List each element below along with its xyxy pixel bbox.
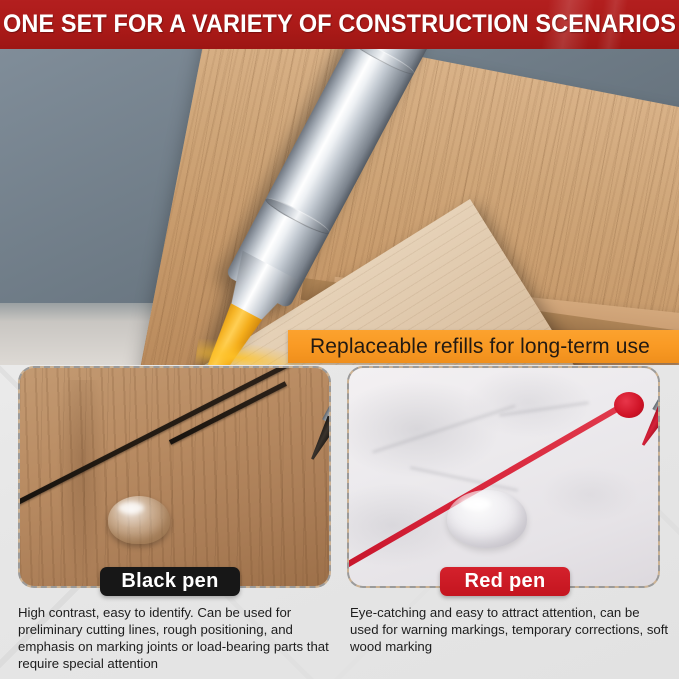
callout-text: Replaceable refills for long-term use [288, 335, 650, 359]
droplet-highlight-marble [461, 498, 491, 510]
page-title: ONE SET FOR A VARIETY OF CONSTRUCTION SC… [20, 0, 658, 49]
marble-vein-3 [499, 402, 588, 417]
panel-black-pen [18, 366, 331, 588]
water-droplet-on-wood [108, 496, 170, 544]
description-red-pen: Eye-catching and easy to attract attenti… [350, 604, 670, 655]
badge-red-pen: Red pen [440, 567, 570, 596]
droplet-highlight [118, 502, 144, 514]
marble-vein-2 [410, 467, 518, 492]
description-black-pen: High contrast, easy to identify. Can be … [18, 604, 336, 672]
panel-red-pen [347, 366, 660, 588]
product-infographic: ONE SET FOR A VARIETY OF CONSTRUCTION SC… [0, 0, 679, 679]
marble-vein [372, 405, 515, 453]
red-ink-blob [614, 392, 644, 418]
hero-product-photo: Replaceable refills for long-term use [0, 49, 679, 365]
badge-black-pen: Black pen [100, 567, 240, 596]
water-droplet-on-marble [447, 490, 527, 548]
callout-banner: Replaceable refills for long-term use [288, 330, 679, 363]
header-banner: ONE SET FOR A VARIETY OF CONSTRUCTION SC… [0, 0, 679, 49]
